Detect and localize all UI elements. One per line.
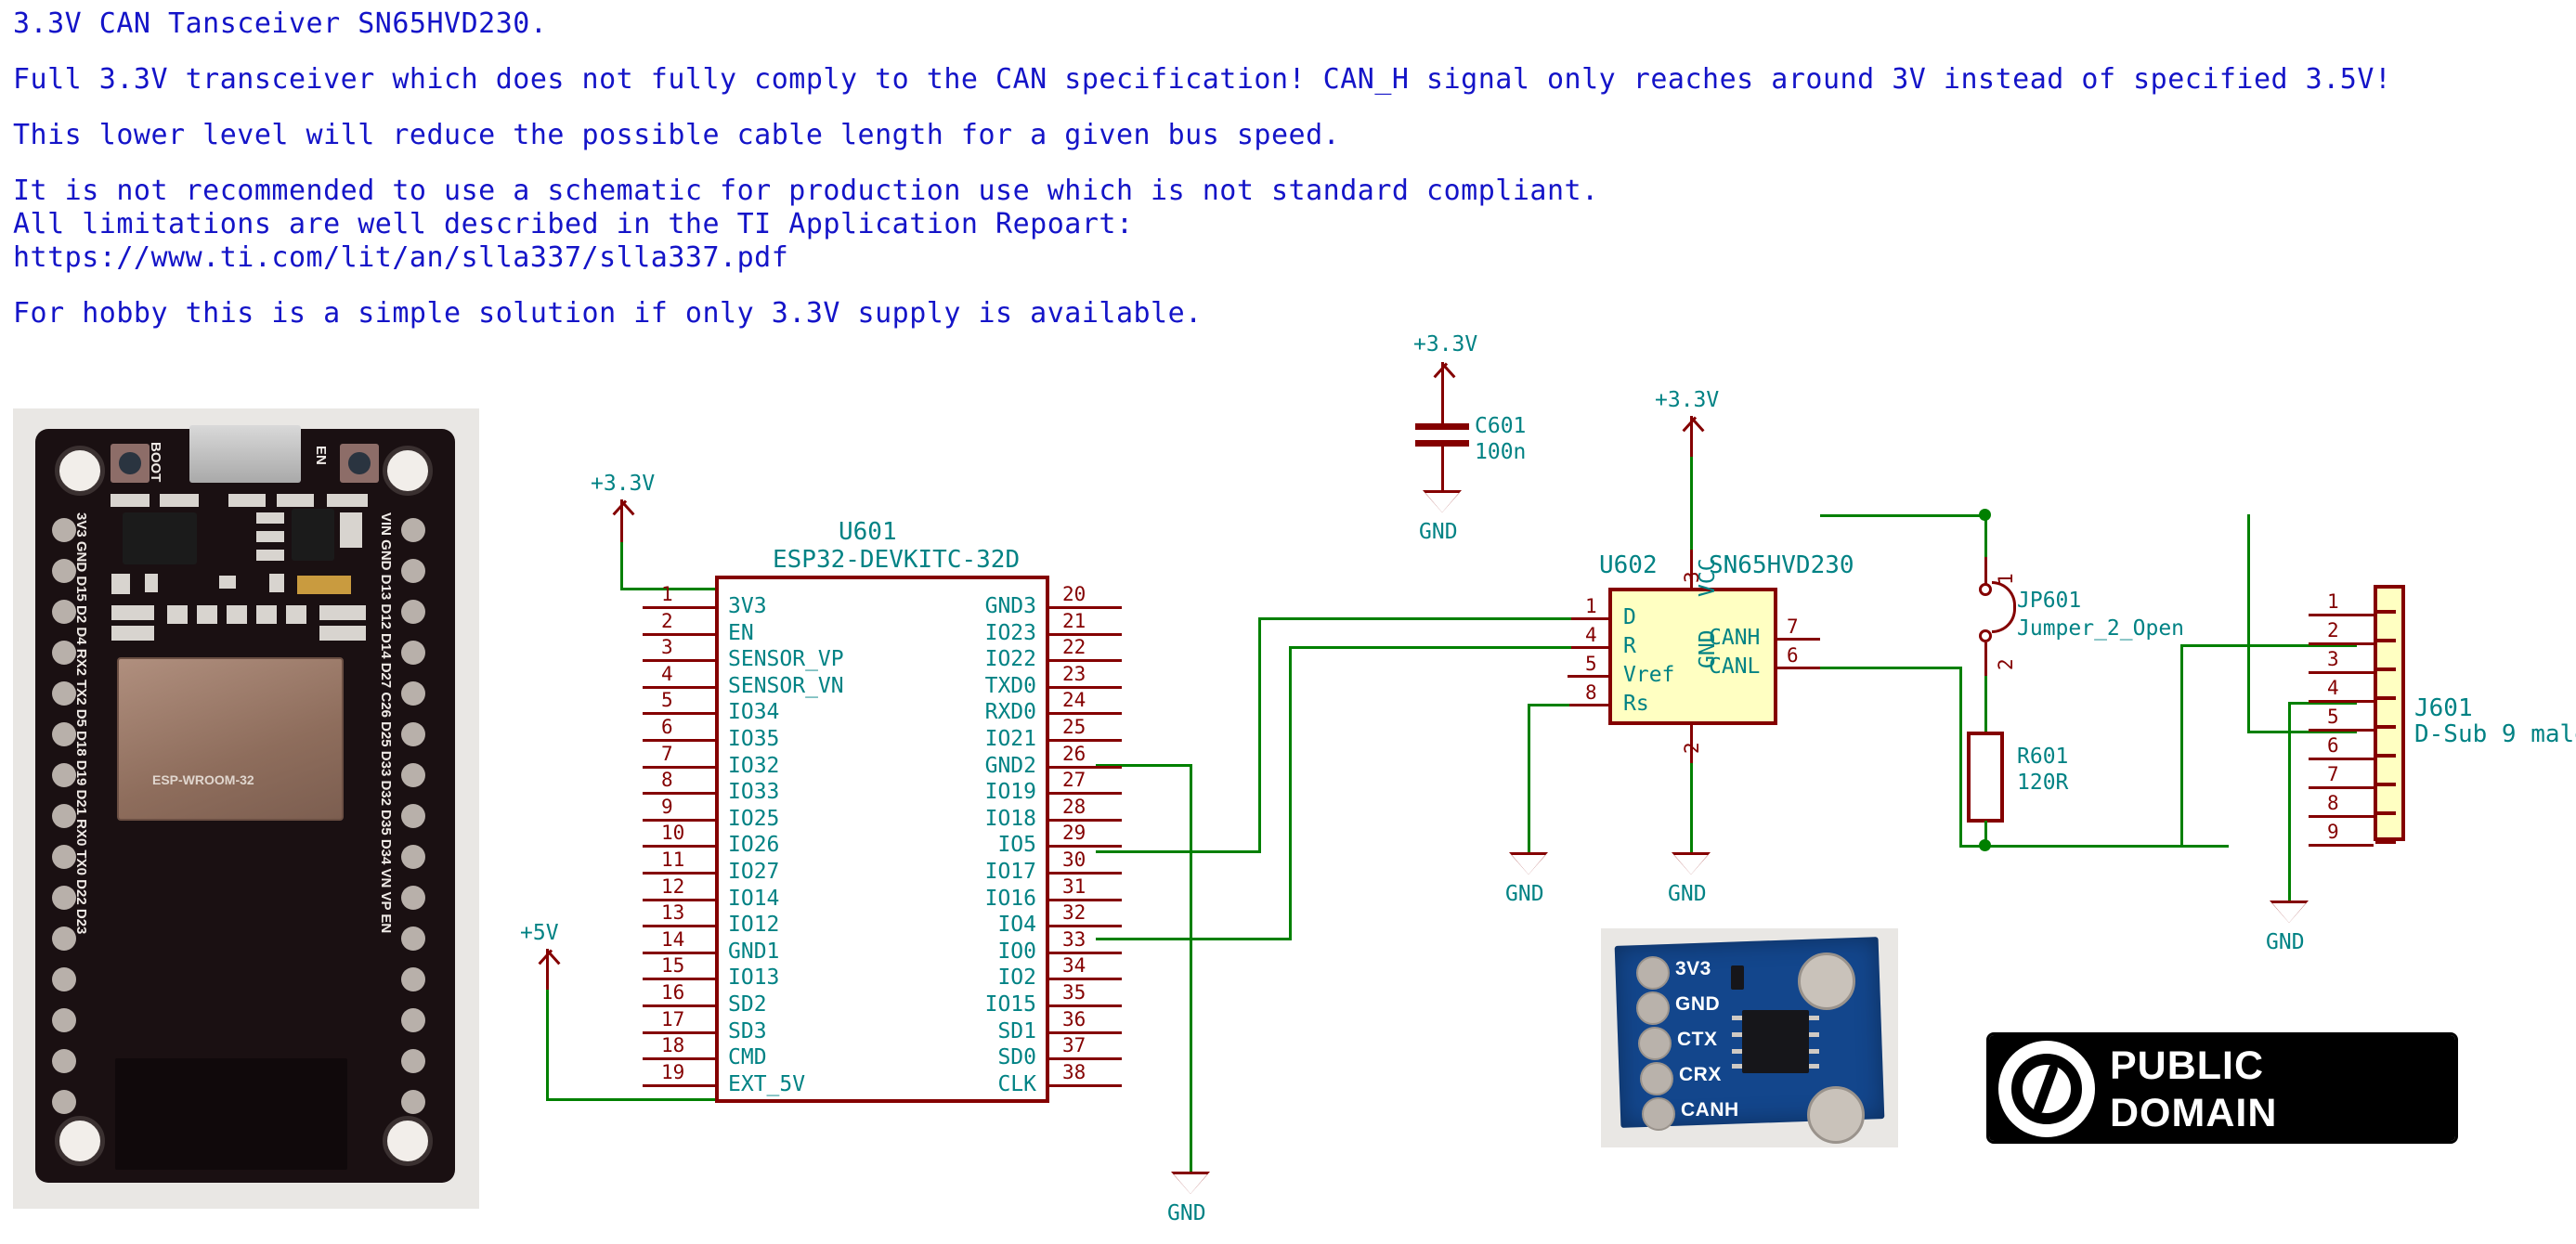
u602-pnum-8: 8 bbox=[1585, 681, 1597, 704]
u601-left-pnum: 10 bbox=[661, 822, 684, 844]
power-label-gnd-u602: GND bbox=[1668, 882, 1707, 906]
u601-right-pinline bbox=[1049, 606, 1122, 609]
badge-line-1: PUBLIC bbox=[2110, 1043, 2277, 1090]
u601-left-pnum: 9 bbox=[661, 796, 673, 818]
wire-rs-v bbox=[1528, 704, 1530, 852]
jp601-pnum-1: 1 bbox=[1995, 573, 2017, 585]
j601-pinline bbox=[2309, 844, 2374, 847]
u601-left-pinline bbox=[643, 739, 715, 742]
u601-left-pnum: 5 bbox=[661, 689, 673, 711]
wire-canl-bottom-h bbox=[1959, 845, 2229, 848]
j601-pnum: 8 bbox=[2327, 792, 2339, 814]
j601-pinline bbox=[2309, 614, 2374, 616]
j601-pin-stub bbox=[2375, 725, 2396, 729]
silk-module: ESP-WROOM-32 bbox=[152, 772, 254, 787]
j601-pin-stub bbox=[2375, 639, 2396, 642]
u601-left-pinname: IO32 bbox=[728, 754, 779, 778]
u601-left-pnum: 8 bbox=[661, 769, 673, 791]
j601-pin-stub bbox=[2375, 840, 2396, 844]
u601-right-pinline bbox=[1049, 712, 1122, 715]
silk-en: EN bbox=[313, 446, 329, 465]
wire-canh-to-j601-v bbox=[2247, 514, 2250, 733]
u601-left-pinname: 3V3 bbox=[728, 594, 767, 618]
u601-right-pnum: 23 bbox=[1062, 663, 1086, 685]
u601-right-pinline bbox=[1049, 659, 1122, 662]
silk-crx: CRX bbox=[1679, 1064, 1722, 1086]
u601-left-pinline bbox=[643, 1084, 715, 1087]
wire-jp-r601 bbox=[1984, 676, 1987, 733]
u602-value: SN65HVD230 bbox=[1709, 551, 1854, 579]
u601-right-pnum: 21 bbox=[1062, 610, 1086, 632]
note-line-4: It is not recommended to use a schematic… bbox=[13, 175, 2335, 208]
r601-body bbox=[1967, 732, 2004, 823]
j601-pin-stub bbox=[2375, 610, 2396, 614]
u602-pin-d: D bbox=[1623, 605, 1636, 629]
power-label-gnd-rs: GND bbox=[1505, 882, 1544, 906]
u601-right-pinname: SD1 bbox=[997, 1019, 1036, 1043]
u601-right-pnum: 35 bbox=[1062, 981, 1086, 1004]
wire-3v3-esp-v bbox=[620, 542, 623, 590]
jp601-pnum-2: 2 bbox=[1995, 658, 2017, 670]
u601-left-pnum: 15 bbox=[661, 954, 684, 977]
j601-pnum: 5 bbox=[2327, 706, 2339, 728]
u601-right-pinname: GND2 bbox=[985, 754, 1036, 778]
zero-icon bbox=[1998, 1041, 2095, 1137]
j601-symbol-body bbox=[2374, 585, 2405, 841]
u601-left-pinname: IO14 bbox=[728, 887, 779, 911]
u601-right-pinname: IO17 bbox=[985, 860, 1036, 884]
u601-right-pinname: GND3 bbox=[985, 594, 1036, 618]
wire-3v3-u602 bbox=[1690, 457, 1693, 550]
u601-right-pnum: 24 bbox=[1062, 689, 1086, 711]
u601-right-pnum: 31 bbox=[1062, 875, 1086, 898]
u601-right-pinname: IO19 bbox=[985, 780, 1036, 804]
j601-pin-stub bbox=[2375, 754, 2396, 758]
u601-right-pnum: 33 bbox=[1062, 928, 1086, 951]
u601-left-pinname: SENSOR_VN bbox=[728, 674, 844, 698]
u601-left-pnum: 16 bbox=[661, 981, 684, 1004]
u601-right-pinname: IO0 bbox=[997, 939, 1036, 964]
power-label-3v3-cap: +3.3V bbox=[1413, 332, 1477, 356]
u601-right-pinname: IO21 bbox=[985, 727, 1036, 751]
wire-gnd2-v bbox=[1190, 764, 1192, 1174]
u601-right-pinname: SD0 bbox=[997, 1045, 1036, 1069]
u601-right-pinname: IO18 bbox=[985, 807, 1036, 831]
u601-left-pinname: SD2 bbox=[728, 992, 767, 1017]
u602-pin-rs: Rs bbox=[1623, 692, 1649, 716]
u601-right-pinname: IO15 bbox=[985, 992, 1036, 1017]
u601-right-pinline bbox=[1049, 925, 1122, 927]
note-line-7: For hobby this is a simple solution if o… bbox=[13, 297, 2335, 330]
jp601-arc bbox=[1992, 581, 2016, 633]
u601-right-pinline bbox=[1049, 792, 1122, 795]
wire-canl-to-j601-v bbox=[2180, 644, 2183, 848]
j601-pnum: 1 bbox=[2327, 590, 2339, 613]
u601-left-pnum: 3 bbox=[661, 636, 673, 658]
u601-left-pinline bbox=[643, 845, 715, 848]
u602-pin-canl: CANL bbox=[1709, 654, 1760, 679]
j601-pinline bbox=[2309, 729, 2374, 732]
wire-io5-v bbox=[1258, 617, 1261, 853]
power-label-5v: +5V bbox=[520, 921, 559, 945]
u601-left-pinline bbox=[643, 978, 715, 980]
silk-boot: BOOT bbox=[148, 442, 163, 482]
u601-left-pnum: 11 bbox=[661, 849, 684, 871]
u601-left-pnum: 6 bbox=[661, 716, 673, 738]
u601-left-pinname: IO12 bbox=[728, 913, 779, 937]
u601-left-pinline bbox=[643, 712, 715, 715]
u601-right-pnum: 38 bbox=[1062, 1061, 1086, 1083]
u601-right-pnum: 37 bbox=[1062, 1034, 1086, 1056]
silk-gnd: GND bbox=[1675, 993, 1720, 1016]
u602-pin-vref: Vref bbox=[1623, 663, 1674, 687]
u601-right-pnum: 34 bbox=[1062, 954, 1086, 977]
u601-left-pinname: IO26 bbox=[728, 833, 779, 857]
u602-pnum-6: 6 bbox=[1787, 644, 1799, 667]
u602-pin-canh: CANH bbox=[1709, 626, 1760, 650]
power-label-gnd-cap: GND bbox=[1419, 520, 1458, 544]
u601-left-pinname: IO27 bbox=[728, 860, 779, 884]
jp601-pad-2[interactable] bbox=[1979, 629, 1992, 642]
u601-right-pinline bbox=[1049, 845, 1122, 848]
esp32-board-photo: BOOT EN ESP-WROOM-32 bbox=[13, 408, 479, 1209]
r601-ref: R601 bbox=[2017, 745, 2068, 769]
jp601-pad-1[interactable] bbox=[1979, 583, 1992, 596]
j601-pinline bbox=[2309, 786, 2374, 789]
u601-left-pnum: 12 bbox=[661, 875, 684, 898]
j601-pnum: 2 bbox=[2327, 619, 2339, 641]
silk-3v3: 3V3 bbox=[1675, 958, 1711, 980]
jp601-ref: JP601 bbox=[2017, 589, 2081, 613]
u602-pnum-4: 4 bbox=[1585, 624, 1597, 646]
silk-canh: CANH bbox=[1681, 1099, 1739, 1121]
silk-ctx: CTX bbox=[1677, 1029, 1718, 1051]
u601-left-pinname: SENSOR_VP bbox=[728, 647, 844, 671]
u601-left-pnum: 1 bbox=[661, 583, 673, 605]
u601-right-pnum: 30 bbox=[1062, 849, 1086, 871]
u601-right-pnum: 28 bbox=[1062, 796, 1086, 818]
u601-right-pinname: IO23 bbox=[985, 621, 1036, 645]
wire-canh-top-h bbox=[1820, 514, 1987, 517]
wire-rs-h bbox=[1528, 704, 1569, 706]
u601-right-pinname: IO22 bbox=[985, 647, 1036, 671]
u601-left-pnum: 7 bbox=[661, 743, 673, 765]
j601-pinline bbox=[2309, 758, 2374, 760]
junction-canh-node bbox=[1979, 509, 1991, 521]
can-module-photo: 3V3 GND CTX CRX CANH bbox=[1601, 928, 1898, 1147]
u601-left-pinname: IO34 bbox=[728, 700, 779, 724]
u601-right-pinline bbox=[1049, 739, 1122, 742]
u601-left-pinline bbox=[643, 659, 715, 662]
u601-left-pinline bbox=[643, 766, 715, 769]
note-link[interactable]: https://www.ti.com/lit/an/slla337/slla33… bbox=[13, 241, 2335, 275]
u601-left-pinline bbox=[643, 686, 715, 689]
j601-ref: J601 bbox=[2414, 694, 2473, 722]
j601-pin-stub bbox=[2375, 696, 2396, 700]
u601-left-pnum: 14 bbox=[661, 928, 684, 951]
silk-left-names: 3V3 GND D15 D2 D4 RX2 TX2 D5 D18 D19 D21… bbox=[73, 512, 89, 934]
u601-left-pnum: 13 bbox=[661, 901, 684, 924]
wire-j601-gnd-v bbox=[2288, 702, 2291, 904]
u602-pnum-1: 1 bbox=[1585, 595, 1597, 617]
u601-right-pinname: RXD0 bbox=[985, 700, 1036, 724]
u601-left-pinname: EXT_5V bbox=[728, 1072, 805, 1096]
u601-left-pinname: GND1 bbox=[728, 939, 779, 964]
u601-right-pnum: 36 bbox=[1062, 1008, 1086, 1030]
u601-left-pnum: 18 bbox=[661, 1034, 684, 1056]
u601-left-pinname: IO33 bbox=[728, 780, 779, 804]
wire-5v-h bbox=[546, 1098, 715, 1101]
u601-left-pnum: 17 bbox=[661, 1008, 684, 1030]
j601-pinline bbox=[2309, 815, 2374, 818]
silk-right-names: VIN GND D13 D12 D14 D27 C26 D25 D33 D32 … bbox=[378, 512, 394, 933]
u601-left-pinline bbox=[643, 1057, 715, 1060]
u601-left-pinline bbox=[643, 872, 715, 875]
u601-right-pnum: 22 bbox=[1062, 636, 1086, 658]
jp601-value: Jumper_2_Open bbox=[2017, 616, 2184, 641]
u601-right-pinname: CLK bbox=[997, 1072, 1036, 1096]
notes-block: 3.3V CAN Tansceiver SN65HVD230. Full 3.3… bbox=[13, 7, 2335, 330]
j601-pnum: 6 bbox=[2327, 734, 2339, 757]
wire-io4-v bbox=[1289, 646, 1292, 940]
u601-right-pinname: TXD0 bbox=[985, 674, 1036, 698]
power-label-3v3-esp: +3.3V bbox=[591, 472, 655, 496]
j601-pnum: 3 bbox=[2327, 648, 2339, 670]
c601-plate-bottom bbox=[1415, 440, 1469, 447]
u601-left-pnum: 2 bbox=[661, 610, 673, 632]
u601-left-pinname: IO25 bbox=[728, 807, 779, 831]
r601-value: 120R bbox=[2017, 771, 2068, 795]
badge-line-2: DOMAIN bbox=[2110, 1090, 2277, 1137]
note-line-5: All limitations are well described in th… bbox=[13, 208, 2335, 241]
u601-left-pinline bbox=[643, 792, 715, 795]
u601-left-pinline bbox=[643, 606, 715, 609]
u601-left-pinname: IO13 bbox=[728, 965, 779, 990]
u601-right-pnum: 27 bbox=[1062, 769, 1086, 791]
u601-value: ESP32-DEVKITC-32D bbox=[773, 546, 1020, 574]
u602-pin-r: R bbox=[1623, 634, 1636, 658]
wire-io4-h2 bbox=[1289, 646, 1571, 649]
j601-pin-stub bbox=[2375, 783, 2396, 786]
power-label-gnd-dsub: GND bbox=[2266, 930, 2305, 954]
u601-right-pnum: 20 bbox=[1062, 583, 1086, 605]
u601-left-pinname: SD3 bbox=[728, 1019, 767, 1043]
u601-right-pnum: 32 bbox=[1062, 901, 1086, 924]
u601-left-pinname: IO35 bbox=[728, 727, 779, 751]
u602-ref: U602 bbox=[1599, 551, 1658, 579]
wire-canl-v bbox=[1959, 667, 1962, 847]
u601-right-pinline bbox=[1049, 978, 1122, 980]
u601-right-pinline bbox=[1049, 1084, 1122, 1087]
wire-5v-v bbox=[546, 990, 549, 1101]
j601-pin-stub bbox=[2375, 667, 2396, 671]
note-line-2: Full 3.3V transceiver which does not ful… bbox=[13, 63, 2335, 97]
u601-right-pinname: IO5 bbox=[997, 833, 1036, 857]
j601-pnum: 9 bbox=[2327, 821, 2339, 843]
u601-left-pinname: EN bbox=[728, 621, 754, 645]
wire-io4-h1 bbox=[1096, 938, 1291, 940]
wire-io5-h1 bbox=[1096, 850, 1260, 853]
u601-left-pnum: 19 bbox=[661, 1061, 684, 1083]
public-domain-badge: PUBLIC DOMAIN bbox=[1986, 1032, 2458, 1144]
wire-gnd-u602 bbox=[1690, 763, 1693, 856]
u601-right-pinline bbox=[1049, 1057, 1122, 1060]
u601-right-pnum: 26 bbox=[1062, 743, 1086, 765]
wire-canl-h bbox=[1820, 667, 1962, 669]
u601-ref: U601 bbox=[839, 518, 897, 546]
junction-canl-node bbox=[1979, 839, 1991, 851]
j601-pinline bbox=[2309, 700, 2374, 703]
j601-pin-stub bbox=[2375, 811, 2396, 815]
power-label-gnd-esp: GND bbox=[1167, 1201, 1206, 1225]
u601-left-pinname: CMD bbox=[728, 1045, 767, 1069]
j601-pnum: 4 bbox=[2327, 677, 2339, 699]
j601-value: D-Sub 9 male bbox=[2414, 720, 2576, 748]
u601-right-pinline bbox=[1049, 872, 1122, 875]
j601-pinline bbox=[2309, 671, 2374, 674]
u601-right-pinname: IO2 bbox=[997, 965, 1036, 990]
u601-left-pinline bbox=[643, 1004, 715, 1007]
u601-right-pnum: 29 bbox=[1062, 822, 1086, 844]
u601-left-pinline bbox=[643, 633, 715, 636]
c601-plate-top bbox=[1415, 423, 1469, 430]
u602-pnum-7: 7 bbox=[1787, 616, 1799, 638]
u601-left-pinline bbox=[643, 925, 715, 927]
u601-right-pinline bbox=[1049, 1004, 1122, 1007]
power-label-3v3-u602: +3.3V bbox=[1655, 388, 1719, 412]
j601-pnum: 7 bbox=[2327, 763, 2339, 785]
c601-ref: C601 bbox=[1475, 414, 1526, 438]
note-line-3: This lower level will reduce the possibl… bbox=[13, 119, 2335, 152]
j601-pinline bbox=[2309, 642, 2374, 645]
u601-right-pinname: IO16 bbox=[985, 887, 1036, 911]
u601-left-pnum: 4 bbox=[661, 663, 673, 685]
note-line-1: 3.3V CAN Tansceiver SN65HVD230. bbox=[13, 7, 2335, 41]
c601-value: 100n bbox=[1475, 440, 1526, 464]
wire-io5-h2 bbox=[1258, 617, 1571, 620]
u601-right-pinname: IO4 bbox=[997, 913, 1036, 937]
u601-right-pnum: 25 bbox=[1062, 716, 1086, 738]
u602-pnum-5: 5 bbox=[1585, 653, 1597, 675]
